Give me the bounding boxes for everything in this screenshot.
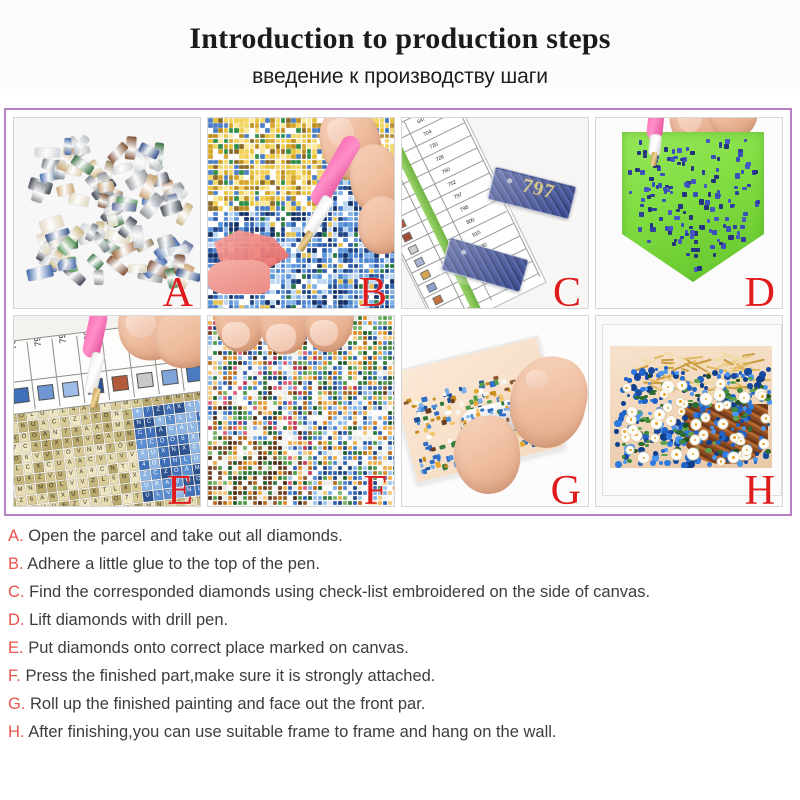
steps-image-gallery: A B	[4, 108, 792, 516]
step-text: Adhere a little glue to the top of the p…	[27, 555, 320, 573]
step-item: C. Find the corresponded diamonds using …	[8, 584, 792, 612]
panel-a-diamond-packets[interactable]: A	[13, 117, 201, 309]
step-text: Roll up the finished painting and face o…	[30, 695, 425, 713]
step-item: D. Lift diamonds with drill pen.	[8, 612, 792, 640]
step-letter: H.	[8, 723, 25, 741]
step-text: After finishing,you can use suitable fra…	[28, 723, 556, 741]
finished-painting-photo	[596, 316, 782, 506]
step-text: Put diamonds onto correct place marked o…	[28, 639, 409, 657]
step-letter: G.	[8, 695, 25, 713]
gallery-row-2: TN47NVLNC6MZTTOUXOLTZUUZCNTZOLU7L4ANTTMO…	[10, 312, 786, 510]
panel-e-placing-diamonds[interactable]: TN47NVLNC6MZTTOUXOLTZUUZCNTZOLU7L4ANTTMO…	[13, 315, 201, 507]
page-header: Introduction to production steps введени…	[0, 0, 800, 89]
step-text: Press the finished part,make sure it is …	[25, 667, 435, 685]
page-subtitle: введение к производству шаги	[0, 57, 800, 89]
panel-h-finished-painting[interactable]: H	[595, 315, 783, 507]
diamond-packets-photo	[14, 118, 200, 308]
step-text: Lift diamonds with drill pen.	[29, 611, 228, 629]
checklist-and-bags-photo: 647704720728760762797798800815830836827 …	[402, 118, 588, 308]
panel-b-glue-on-pen[interactable]: B	[207, 117, 395, 309]
step-letter: A.	[8, 527, 24, 545]
page-title: Introduction to production steps	[0, 22, 800, 57]
panel-g-rolling-canvas[interactable]: G	[401, 315, 589, 507]
step-text: Find the corresponded diamonds using che…	[29, 583, 650, 601]
pressing-diamonds-photo	[208, 316, 394, 506]
instruction-steps-list: A. Open the parcel and take out all diam…	[8, 528, 792, 752]
gallery-row-1: A B	[10, 114, 786, 312]
step-letter: D.	[8, 611, 25, 629]
panel-f-pressing-diamonds[interactable]: F	[207, 315, 395, 507]
step-item: A. Open the parcel and take out all diam…	[8, 528, 792, 556]
step-text: Open the parcel and take out all diamond…	[28, 527, 343, 545]
step-letter: C.	[8, 583, 25, 601]
step-item: F. Press the finished part,make sure it …	[8, 668, 792, 696]
step-letter: F.	[8, 667, 21, 685]
step-item: E. Put diamonds onto correct place marke…	[8, 640, 792, 668]
panel-d-green-tray[interactable]: D	[595, 117, 783, 309]
panel-c-checklist-and-bags[interactable]: 647704720728760762797798800815830836827 …	[401, 117, 589, 309]
rolling-canvas-photo	[402, 316, 588, 506]
step-letter: B.	[8, 555, 24, 573]
step-item: H. After finishing,you can use suitable …	[8, 724, 792, 752]
step-item: G. Roll up the finished painting and fac…	[8, 696, 792, 724]
glue-on-pen-photo	[208, 118, 394, 308]
step-item: B. Adhere a little glue to the top of th…	[8, 556, 792, 584]
step-letter: E.	[8, 639, 24, 657]
green-tray-photo	[596, 118, 782, 308]
placing-diamonds-photo: TN47NVLNC6MZTTOUXOLTZUUZCNTZOLU7L4ANTTMO…	[14, 316, 200, 506]
